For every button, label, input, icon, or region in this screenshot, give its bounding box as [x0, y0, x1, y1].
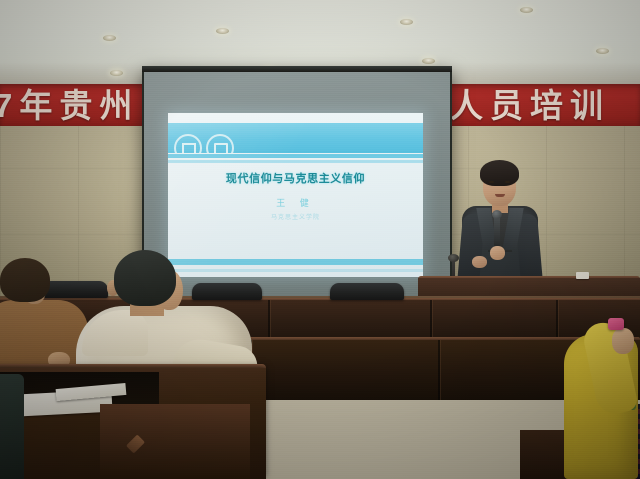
desk-panel-seam: [430, 300, 432, 342]
microphone-head-icon: [492, 210, 502, 219]
audience-left-hair: [0, 258, 50, 302]
speaker-hand-left: [472, 256, 487, 268]
downlight-icon: [596, 48, 609, 54]
downlight-icon: [520, 7, 533, 13]
speaker-hair: [480, 160, 519, 186]
speaker-eye-left: [489, 181, 494, 183]
podium-object: [576, 272, 589, 279]
slide-presenter-name: 王 健: [168, 197, 423, 209]
banner-text-left: 7年贵州: [0, 86, 139, 126]
pink-phone-icon: [608, 318, 624, 330]
mic-stand-head-icon: [448, 254, 459, 262]
slide-affiliation: 马克思主义学院: [168, 214, 423, 223]
downlight-icon: [422, 58, 435, 64]
desk-panel-seam: [438, 340, 440, 400]
speaker-eye-right: [505, 181, 510, 183]
microphone-icon: [494, 214, 500, 250]
projection-screen-rail: [142, 66, 452, 72]
audience-right-attendee: [560, 300, 640, 479]
desk-panel-seam: [268, 300, 270, 342]
speaker-hand-right: [490, 246, 505, 260]
downlight-icon: [400, 19, 413, 25]
downlight-icon: [103, 35, 116, 41]
slide-header-rule: [168, 154, 423, 158]
downlight-icon: [216, 28, 229, 34]
foreground-desk-panel: [100, 404, 250, 479]
slide-header-band: [168, 123, 423, 153]
slide-title: 现代信仰与马克思主义信仰: [168, 172, 423, 186]
downlight-icon: [110, 70, 123, 76]
slide-header-rule-thin: [168, 160, 423, 163]
speaker-mouth: [495, 194, 505, 197]
audience-center-hair: [114, 250, 176, 306]
desk-panel-seam: [556, 300, 558, 342]
audience-right-hand: [612, 328, 634, 354]
foreground-figure-edge: [0, 374, 24, 479]
chair-back: [330, 283, 404, 300]
lecture-hall-scene: 7年贵州 干人员培训 现代信仰与马克思主义信仰 王 健 马克思主义学院: [0, 0, 640, 479]
